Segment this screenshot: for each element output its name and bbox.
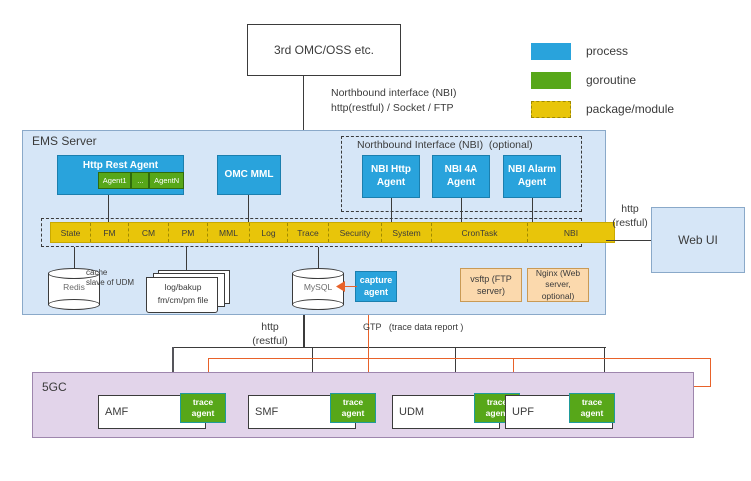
nf-label-udm: UDM [399,406,424,418]
agent-cell-n: AgentN [149,172,184,189]
trace-agent-upf-label: trace agent [570,397,614,418]
third-party-omc-oss-label: 3rd OMC/OSS etc. [274,43,374,57]
nbi-link-label: Northbound interface (NBI) http(restful)… [331,86,456,115]
module-cell-state[interactable]: State [51,223,91,242]
nf-label-upf: UPF [512,406,534,418]
capture-agent-box: capture agent [355,271,397,302]
legend-item-goroutine: goroutine [531,71,746,89]
agent-cell-1: Agent1 [98,172,131,189]
http-restful-label: http (restful) [247,320,293,348]
trace-agent-amf: trace agent [180,393,226,423]
vsftp-label: vsftp (FTP server) [461,273,521,297]
web-ui-box: Web UI [651,207,745,273]
agent-cell-ellipsis: ... [131,172,149,189]
module-cell-trace[interactable]: Trace [288,223,329,242]
gtp-branch-upf-drop [710,358,711,386]
capture-agent-label: capture agent [356,275,396,298]
nf-label-smf: SMF [255,406,278,418]
module-cell-security[interactable]: Security [329,223,382,242]
module-cell-mml[interactable]: MML [208,223,250,242]
nbi-group-title: Northbound Interface (NBI) (optional) [357,139,533,152]
module-cell-nbi[interactable]: NBI [528,223,614,242]
file-store-label: log/bakup fm/cm/pm file [149,281,217,307]
gtp-label: GTP (trace data report ) [363,322,463,333]
nbi-connector-line [303,76,304,130]
nbi-alarm-agent-label: NBI Alarm Agent [504,164,560,189]
http-rest-agent-goroutines: Agent1 ... AgentN [98,172,184,189]
third-party-omc-oss-box: 3rd OMC/OSS etc. [247,24,401,76]
legend-label-goroutine: goroutine [586,73,636,87]
http-bus-horizontal [172,347,606,348]
nbi-4a-agent-box: NBI 4A Agent [432,155,490,198]
nbi-4a-agent-label: NBI 4A Agent [433,164,489,189]
module-cell-log[interactable]: Log [250,223,288,242]
legend-item-package: package/module [531,100,746,118]
webui-connector [606,240,651,241]
nbi-alarm-agent-box: NBI Alarm Agent [503,155,561,198]
redis-connector [74,247,75,269]
nbi-http-agent-label: NBI Http Agent [363,164,419,189]
nginx-box: Nginx (Web server, optional) [527,268,589,302]
module-cell-cm[interactable]: CM [129,223,169,242]
http-rest-agent-label: Http Rest Agent [83,160,158,173]
omc-mml-label: OMC MML [225,169,274,182]
process-swatch-icon [531,43,571,60]
mysql-label: MySQL [292,282,344,292]
vsftp-box: vsftp (FTP server) [460,268,522,302]
trace-agent-smf: trace agent [330,393,376,423]
mysql-connector [318,247,319,269]
omc-mml-box: OMC MML [217,155,281,195]
fivegc-title: 5GC [42,380,67,395]
module-cell-pm[interactable]: PM [169,223,208,242]
package-swatch-icon [531,101,571,118]
redis-label: Redis [48,282,100,292]
nginx-label: Nginx (Web server, optional) [528,268,588,302]
file-store-connector [186,247,187,271]
trace-agent-amf-label: trace agent [181,397,225,418]
module-bar: StateFMCMPMMMLLogTraceSecuritySystemCron… [50,222,615,243]
trace-agent-smf-label: trace agent [331,397,375,418]
module-cell-crontask[interactable]: CronTask [432,223,528,242]
ems-server-title: EMS Server [32,134,97,149]
web-ui-label: Web UI [678,233,718,247]
nbi-http-agent-box: NBI Http Agent [362,155,420,198]
goroutine-swatch-icon [531,72,571,89]
legend-item-process: process [531,42,746,60]
mysql-database-icon: MySQL [292,268,344,310]
legend: process goroutine package/module [531,42,746,129]
legend-label-package: package/module [586,102,674,116]
module-cell-system[interactable]: System [382,223,432,242]
module-cell-fm[interactable]: FM [91,223,129,242]
http-bus-drop [303,315,305,347]
trace-agent-upf: trace agent [569,393,615,423]
webui-link-label: http (restful) [607,202,653,230]
nf-label-amf: AMF [105,406,128,418]
legend-label-process: process [586,44,628,58]
file-store-icon: log/bakup fm/cm/pm file [146,270,230,314]
gtp-bus-horizontal [208,358,710,359]
